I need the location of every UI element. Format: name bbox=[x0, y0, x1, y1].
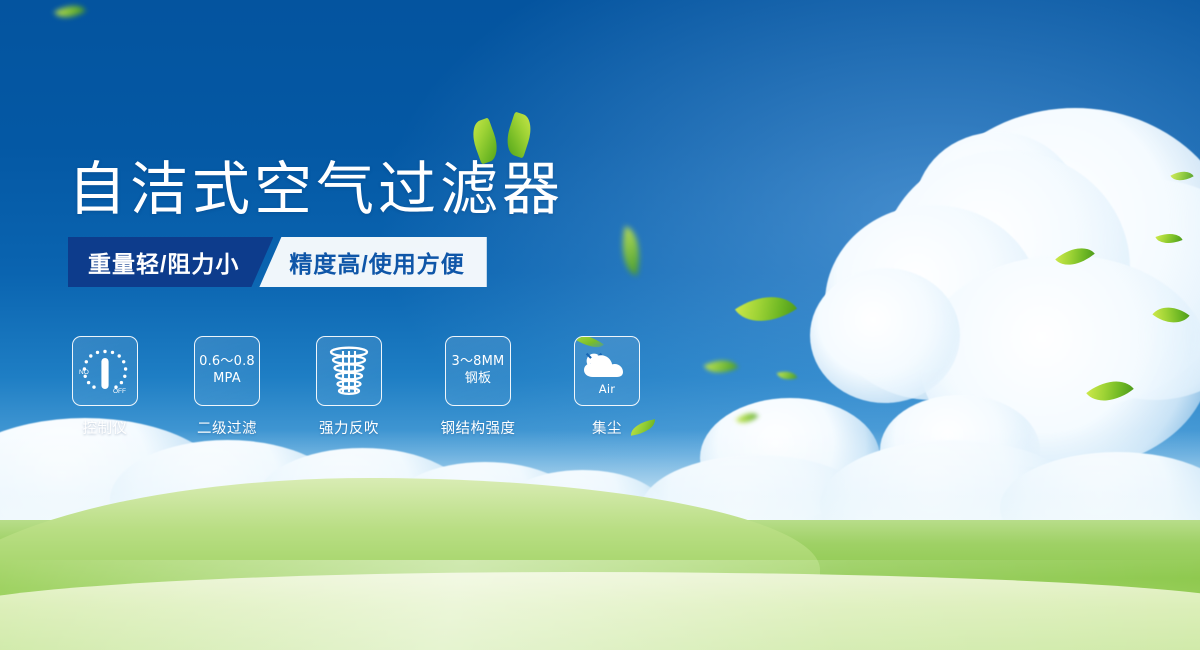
feature-label: 集尘 bbox=[592, 417, 622, 438]
tag-lightweight-lowresistance: 重量轻/阻力小 bbox=[68, 237, 273, 287]
pressure-text-icon: 0.6～0.8 MPA bbox=[194, 336, 260, 406]
feature-steel-strength[interactable]: 3～8MM 钢板 钢结构强度 bbox=[438, 336, 518, 438]
page-title: 自洁式空气过滤器 bbox=[68, 142, 564, 226]
feature-label: 二级过滤 bbox=[197, 417, 257, 438]
dial-gauge-icon: NO OFF bbox=[72, 336, 138, 406]
feature-label: 钢结构强度 bbox=[441, 417, 516, 438]
feature-label: 强力反吹 bbox=[319, 417, 379, 438]
cloud-sun-svg bbox=[580, 349, 634, 381]
pressure-value-line2: MPA bbox=[213, 371, 241, 388]
cloud-air-icon: Air bbox=[574, 336, 640, 406]
feature-back-blow[interactable]: 强力反吹 bbox=[316, 336, 382, 438]
steel-plate-text-icon: 3～8MM 钢板 bbox=[445, 336, 511, 406]
steel-thickness-line1: 3～8MM bbox=[452, 354, 505, 371]
promo-banner: 自洁式空气过滤器 重量轻/阻力小 精度高/使用方便 bbox=[0, 0, 1200, 650]
feature-label: 控制仪 bbox=[83, 417, 128, 438]
cloud-air-caption: Air bbox=[599, 382, 615, 397]
feature-two-stage-filter[interactable]: 0.6～0.8 MPA 二级过滤 bbox=[194, 336, 260, 438]
cloud-shape bbox=[810, 268, 960, 403]
feature-controller[interactable]: NO OFF 控制仪 bbox=[72, 336, 138, 438]
dial-gauge-svg: NO OFF bbox=[75, 341, 135, 401]
subtitle-tag-bar: 重量轻/阻力小 精度高/使用方便 bbox=[68, 237, 487, 287]
meadow-light-sheen bbox=[0, 560, 1200, 650]
dial-label-no: NO bbox=[79, 369, 89, 376]
pressure-value-line1: 0.6～0.8 bbox=[199, 354, 255, 371]
feature-icon-row: NO OFF 控制仪 0.6～0.8 MPA 二级过滤 bbox=[72, 336, 640, 438]
coil-airflow-icon bbox=[316, 336, 382, 406]
feature-label-text: 集尘 bbox=[592, 421, 622, 437]
dial-label-off: OFF bbox=[113, 388, 126, 395]
tag-precision-easyuse: 精度高/使用方便 bbox=[259, 237, 486, 287]
feature-dust-collection[interactable]: Air 集尘 bbox=[574, 336, 640, 438]
coil-airflow-svg bbox=[323, 343, 375, 399]
steel-thickness-line2: 钢板 bbox=[465, 371, 491, 388]
